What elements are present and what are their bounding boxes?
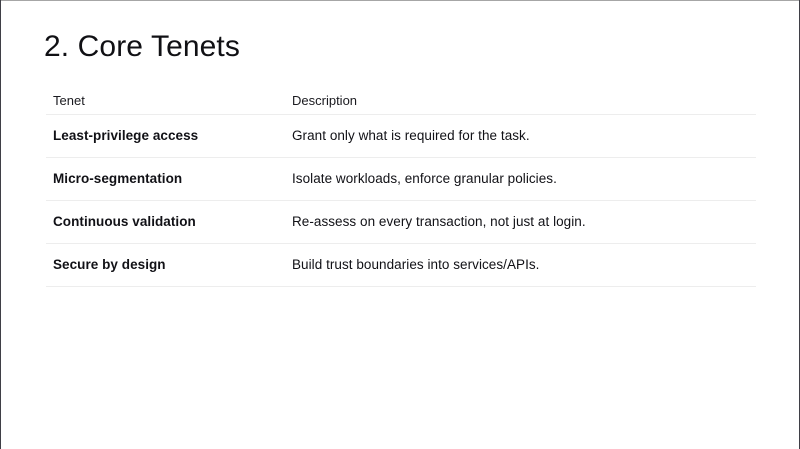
cell-description: Re-assess on every transaction, not just… — [285, 201, 756, 244]
table-header-row: Tenet Description — [46, 87, 756, 115]
table-body: Least-privilege access Grant only what i… — [46, 115, 756, 287]
page-title: 2. Core Tenets — [44, 27, 240, 67]
slide-content: 2. Core Tenets Tenet Description Least-p… — [1, 1, 799, 449]
cell-description: Build trust boundaries into services/API… — [285, 244, 756, 287]
core-tenets-table: Tenet Description Least-privilege access… — [46, 87, 756, 287]
table-row: Continuous validation Re-assess on every… — [46, 201, 756, 244]
cell-tenet: Continuous validation — [46, 201, 285, 244]
column-header-tenet: Tenet — [46, 87, 285, 115]
cell-tenet: Secure by design — [46, 244, 285, 287]
column-header-description: Description — [285, 87, 756, 115]
table-row: Micro-segmentation Isolate workloads, en… — [46, 158, 756, 201]
slide-frame: 2. Core Tenets Tenet Description Least-p… — [0, 0, 800, 449]
table-row: Secure by design Build trust boundaries … — [46, 244, 756, 287]
table-row: Least-privilege access Grant only what i… — [46, 115, 756, 158]
cell-tenet: Micro-segmentation — [46, 158, 285, 201]
cell-description: Grant only what is required for the task… — [285, 115, 756, 158]
table-header: Tenet Description — [46, 87, 756, 115]
cell-description: Isolate workloads, enforce granular poli… — [285, 158, 756, 201]
cell-tenet: Least-privilege access — [46, 115, 285, 158]
